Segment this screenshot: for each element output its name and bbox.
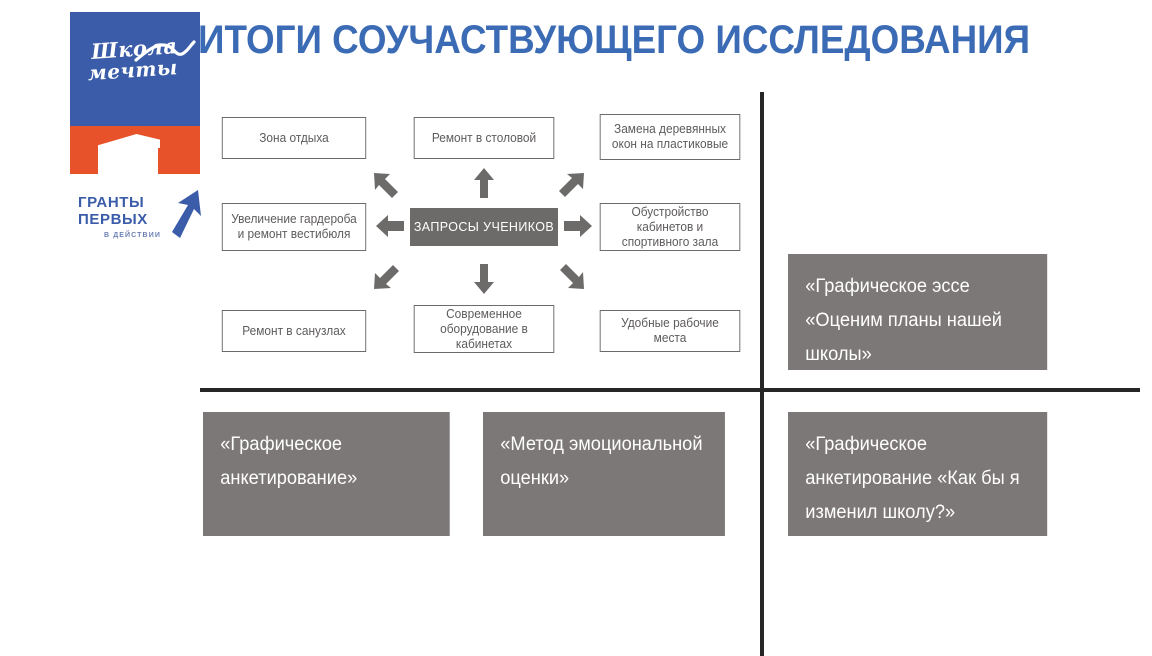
- arrow-up-icon: [473, 167, 495, 199]
- arrow-down-right-icon: [557, 262, 587, 292]
- diagram-box-middle-right: Обустройство кабинетов и спортивного зал…: [600, 203, 741, 251]
- panel-emotional-method: «Метод эмоциональной оценки»: [483, 412, 725, 536]
- arrow-up-right-icon: [557, 170, 587, 200]
- arrow-down-left-icon: [371, 262, 401, 292]
- diagram-box-middle-left: Увеличение гардероба и ремонт вестибюля: [222, 203, 366, 251]
- diagram-box-bottom-left: Ремонт в санузлах: [222, 310, 366, 352]
- panel-graphic-survey: «Графическое анкетирование»: [203, 412, 450, 536]
- diagram-center-node: ЗАПРОСЫ УЧЕНИКОВ: [410, 208, 558, 246]
- panel-graphic-essay: «Графическое эссе «Оценим планы нашей шк…: [788, 254, 1047, 370]
- arrow-up-left-icon: [371, 170, 401, 200]
- diagram-box-top-left: Зона отдыха: [222, 117, 366, 159]
- diagram-box-top-center: Ремонт в столовой: [414, 117, 555, 159]
- arrow-down-icon: [473, 263, 495, 295]
- diagram-box-bottom-center: Современное оборудование в кабинетах: [414, 305, 555, 353]
- arrow-right-icon: [563, 214, 593, 238]
- diagram-box-top-right: Замена деревянных окон на пластиковые: [600, 114, 741, 160]
- diagram-box-bottom-right: Удобные рабочие места: [600, 310, 741, 352]
- panel-graphic-survey-school: «Графическое анкетирование «Как бы я изм…: [788, 412, 1047, 536]
- requests-diagram: Зона отдыха Ремонт в столовой Замена дер…: [0, 0, 760, 390]
- slide-canvas: Школа мечты ГРАНТЫ ПЕРВЫХ В ДЕЙСТВИИ ИТО…: [0, 0, 1152, 656]
- divider-vertical: [760, 92, 764, 656]
- arrow-left-icon: [375, 214, 405, 238]
